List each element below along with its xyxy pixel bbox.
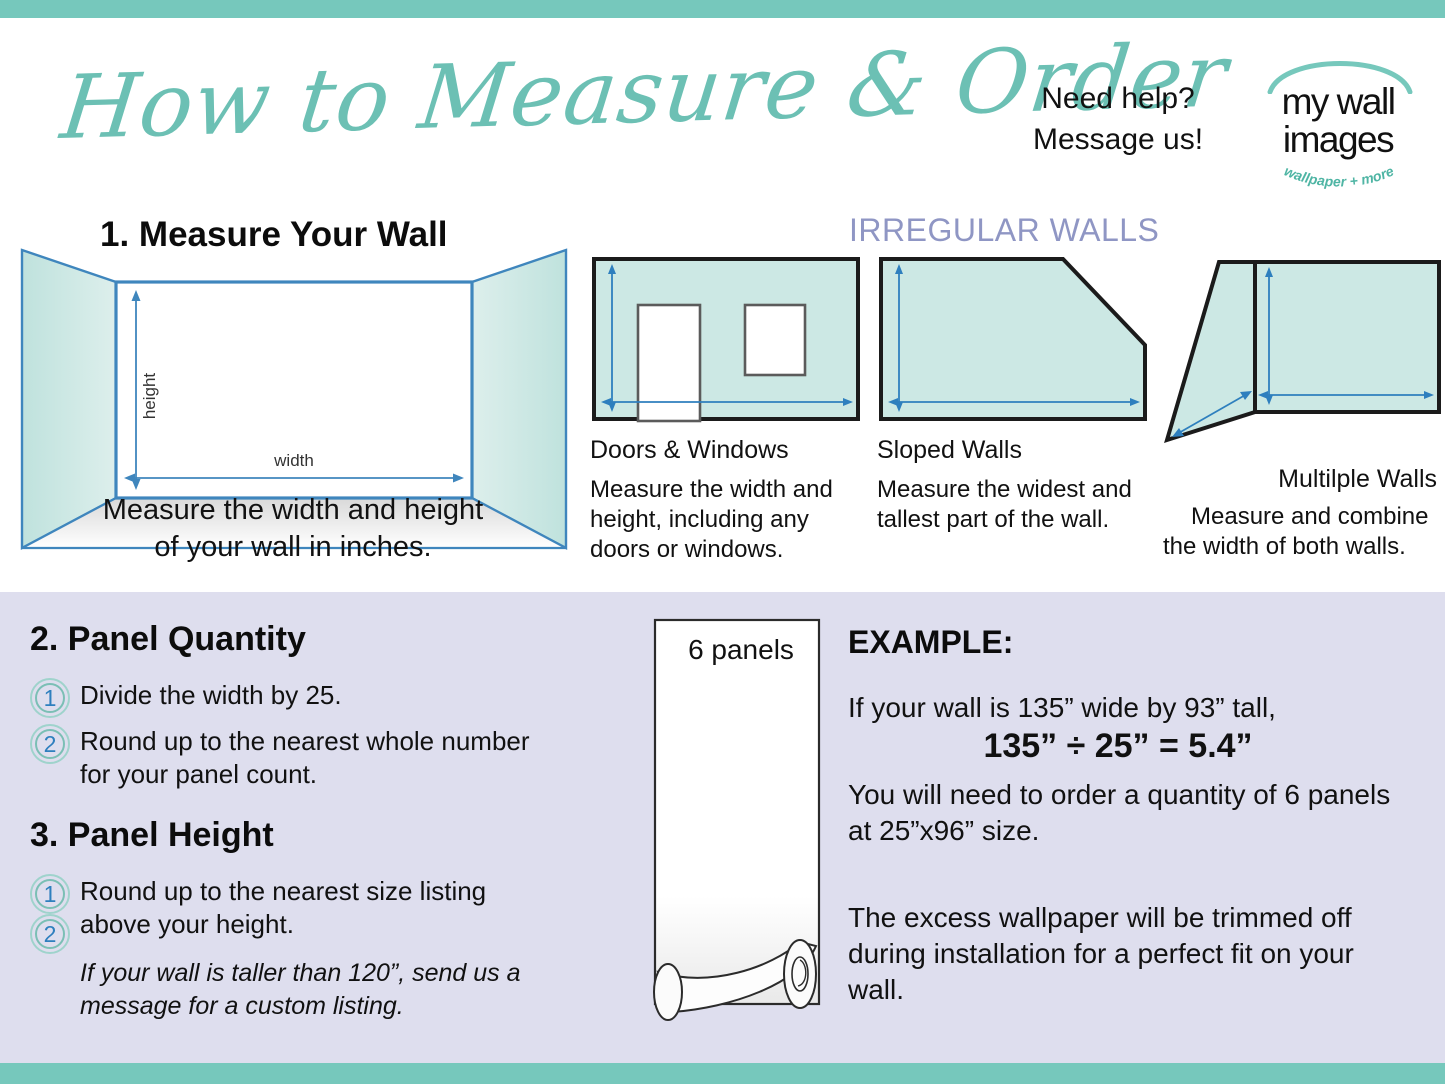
logo-line2: images <box>1253 120 1423 160</box>
multiple-walls-diagram <box>1163 248 1443 458</box>
panel-title: Sloped Walls <box>877 436 1149 465</box>
irregular-panel-multiple-walls: Multilple Walls Measure and combine the … <box>1163 248 1443 562</box>
panel-desc: Measure and combine the width of both wa… <box>1163 502 1443 562</box>
bottom-accent-bar <box>0 1063 1445 1084</box>
section1-caption-line2: of your wall in inches. <box>28 529 558 566</box>
step-marker-3: 1 <box>28 872 72 916</box>
angled-wall <box>1167 262 1255 440</box>
doors-windows-diagram <box>590 255 862 423</box>
step-marker-4: 2 <box>28 912 72 956</box>
top-accent-bar <box>0 0 1445 18</box>
svg-text:2: 2 <box>44 921 57 947</box>
need-help-line2: Message us! <box>1018 119 1218 160</box>
panel-title: Doors & Windows <box>590 436 862 465</box>
window-shape <box>745 305 805 375</box>
page-title: How to Measure & Order <box>55 22 1002 168</box>
logo-tagline: wallpaper + more <box>1263 158 1415 192</box>
panel-desc: Measure the width and height, including … <box>590 475 862 565</box>
example-equation: 135” ÷ 25” = 5.4” <box>848 728 1388 764</box>
panel-height-step-text: Round up to the nearest size listing abo… <box>80 875 560 941</box>
width-label: width <box>273 451 314 470</box>
panel-quantity-step1-text: Divide the width by 25. <box>80 679 550 712</box>
irregular-walls-heading: IRREGULAR WALLS <box>849 212 1159 249</box>
section1-caption: Measure the width and height of your wal… <box>28 492 558 566</box>
panel-height-note: If your wall is taller than 120”, send u… <box>80 957 560 1023</box>
example-heading: EXAMPLE: <box>848 624 1013 661</box>
svg-text:2: 2 <box>44 731 57 757</box>
svg-text:1: 1 <box>44 881 57 907</box>
panel-height-heading: 3. Panel Height <box>30 816 274 855</box>
svg-text:1: 1 <box>44 685 57 711</box>
wallpaper-roll-illustration <box>650 616 842 1034</box>
logo-line1: my wall <box>1253 82 1423 122</box>
need-help-block: Need help? Message us! <box>1018 78 1218 160</box>
irregular-panel-doors-windows: Doors & Windows Measure the width and he… <box>590 255 862 565</box>
roll-panel-count-label: 6 panels <box>650 634 832 666</box>
svg-text:wallpaper + more: wallpaper + more <box>1282 163 1396 190</box>
brand-logo: my wall images wallpaper + more <box>1253 46 1423 186</box>
example-line2: You will need to order a quantity of 6 p… <box>848 777 1393 849</box>
step-marker-1: 1 <box>28 676 72 720</box>
height-label: height <box>140 373 159 420</box>
panel-quantity-step2-text: Round up to the nearest whole number for… <box>80 725 550 791</box>
need-help-line1: Need help? <box>1018 78 1218 119</box>
step-marker-2: 2 <box>28 722 72 766</box>
example-line1: If your wall is 135” wide by 93” tall, <box>848 690 1408 726</box>
irregular-panel-sloped-walls: Sloped Walls Measure the widest and tall… <box>877 255 1149 535</box>
sloped-wall-diagram <box>877 255 1149 423</box>
front-wall <box>1255 262 1439 412</box>
section1-caption-line1: Measure the width and height <box>28 492 558 529</box>
door-shape <box>638 305 700 421</box>
example-line3: The excess wallpaper will be trimmed off… <box>848 900 1393 1008</box>
panel-quantity-heading: 2. Panel Quantity <box>30 620 306 659</box>
panel-title: Multilple Walls <box>1163 465 1443 494</box>
panel-desc: Measure the widest and tallest part of t… <box>877 475 1149 535</box>
